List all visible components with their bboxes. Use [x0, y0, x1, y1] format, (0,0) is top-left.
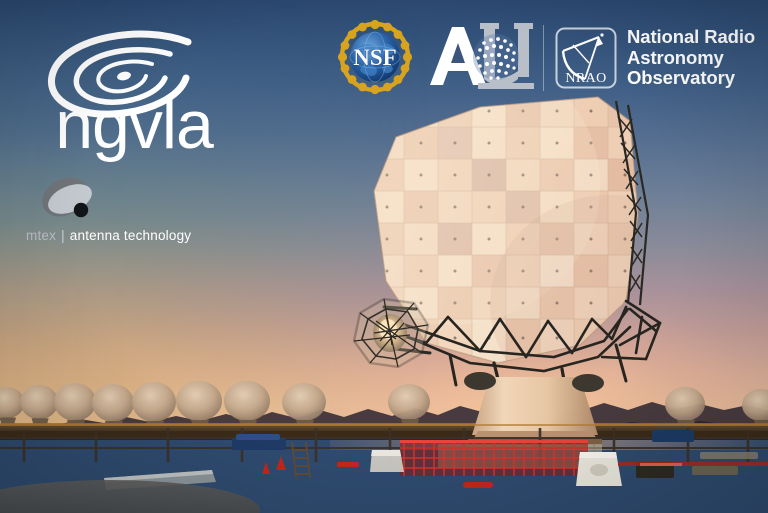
- nsf-acronym: NSF: [353, 45, 396, 70]
- ngvla-logo: ngvla: [20, 18, 250, 168]
- aui-globe-icon: [473, 34, 519, 80]
- nrao-line-2: Astronomy: [627, 48, 755, 69]
- nrao-name-block: National Radio Astronomy Observatory: [627, 27, 755, 89]
- red-barrier-mesh: [400, 440, 588, 476]
- mtex-wordmark: mtex|antenna technology: [26, 228, 232, 243]
- ngvla-wordmark: ngvla: [55, 87, 214, 163]
- nrao-acronym: NRAO: [565, 71, 606, 86]
- aui-logo: [426, 21, 534, 95]
- screenshot-root: ngvla mtex|antenna technology: [0, 0, 768, 513]
- nrao-line-3: Observatory: [627, 68, 755, 89]
- blue-trailer-right: [652, 430, 694, 442]
- mtex-ellipse-mark-icon: [38, 172, 98, 226]
- mtex-tagline: antenna technology: [70, 228, 191, 243]
- mtex-word: mtex: [26, 228, 56, 243]
- equipment-case: [576, 452, 622, 486]
- white-panel-crate: [370, 450, 404, 472]
- logo-divider: [543, 25, 544, 91]
- mtex-logo: mtex|antenna technology: [26, 172, 232, 250]
- blue-trailer: [232, 434, 286, 450]
- mtex-separator: |: [56, 228, 70, 243]
- rail-light-streak: [618, 462, 768, 466]
- nrao-logo: NRAO National Radio Astronomy Observator…: [555, 27, 755, 89]
- nsf-logo: NSF: [336, 18, 414, 96]
- nrao-line-1: National Radio: [627, 27, 755, 48]
- partner-logo-row: NSF: [336, 22, 755, 94]
- nrao-dish-badge-icon: NRAO: [555, 27, 617, 89]
